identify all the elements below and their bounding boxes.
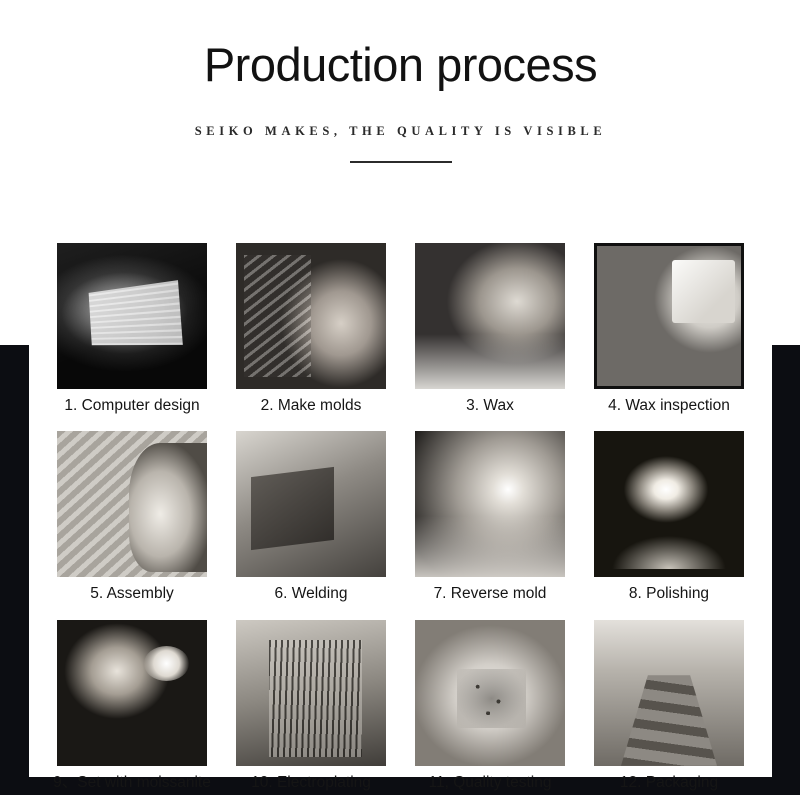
step-caption: 11, Quality testing — [429, 773, 552, 792]
step-caption: 8. Polishing — [629, 584, 709, 603]
computer-design-photo — [57, 243, 207, 389]
assembly-photo — [57, 431, 207, 577]
wax-inspection-photo — [594, 243, 744, 389]
process-step: 3. Wax — [415, 243, 565, 415]
quality-testing-photo — [415, 620, 565, 766]
page-title: Production process — [29, 38, 772, 92]
step-caption: 1. Computer design — [64, 396, 199, 415]
step-caption: 6. Welding — [275, 584, 348, 603]
wax-photo — [415, 243, 565, 389]
right-black-band — [772, 345, 800, 795]
electroplating-photo — [236, 620, 386, 766]
process-step: 1. Computer design — [57, 243, 207, 415]
process-grid: 1. Computer design 2. Make molds 3. Wax … — [57, 243, 744, 795]
content-card: Production process SEIKO MAKES, THE QUAL… — [29, 0, 772, 777]
header-divider — [350, 161, 452, 163]
step-caption: 10. Electroplating — [251, 773, 371, 792]
process-step: 2. Make molds — [236, 243, 386, 415]
step-caption: 4. Wax inspection — [608, 396, 730, 415]
process-step: 9、Set with moissanite — [57, 620, 207, 792]
process-step: 5. Assembly — [57, 431, 207, 603]
step-caption: 3. Wax — [466, 396, 514, 415]
process-step: 6. Welding — [236, 431, 386, 603]
process-step: 4. Wax inspection — [594, 243, 744, 415]
process-row: 1. Computer design 2. Make molds 3. Wax … — [57, 243, 744, 415]
step-caption: 7. Reverse mold — [434, 584, 547, 603]
poster-header: Production process SEIKO MAKES, THE QUAL… — [29, 38, 772, 163]
step-caption: 12. Packaging — [620, 773, 718, 792]
page-subtitle: SEIKO MAKES, THE QUALITY IS VISIBLE — [29, 124, 772, 139]
process-step: 10. Electroplating — [236, 620, 386, 792]
step-caption: 9、Set with moissanite — [53, 773, 211, 792]
process-step: 7. Reverse mold — [415, 431, 565, 603]
step-caption: 2. Make molds — [261, 396, 362, 415]
step-caption: 5. Assembly — [90, 584, 174, 603]
packaging-photo — [594, 620, 744, 766]
make-molds-photo — [236, 243, 386, 389]
process-step: 8. Polishing — [594, 431, 744, 603]
welding-photo — [236, 431, 386, 577]
production-process-poster: Production process SEIKO MAKES, THE QUAL… — [0, 0, 800, 795]
process-step: 11, Quality testing — [415, 620, 565, 792]
process-step: 12. Packaging — [594, 620, 744, 792]
polishing-photo — [594, 431, 744, 577]
set-with-moissanite-photo — [57, 620, 207, 766]
reverse-mold-photo — [415, 431, 565, 577]
process-row: 5. Assembly 6. Welding 7. Reverse mold 8… — [57, 431, 744, 603]
process-row: 9、Set with moissanite 10. Electroplating… — [57, 620, 744, 792]
left-black-band — [0, 345, 29, 795]
